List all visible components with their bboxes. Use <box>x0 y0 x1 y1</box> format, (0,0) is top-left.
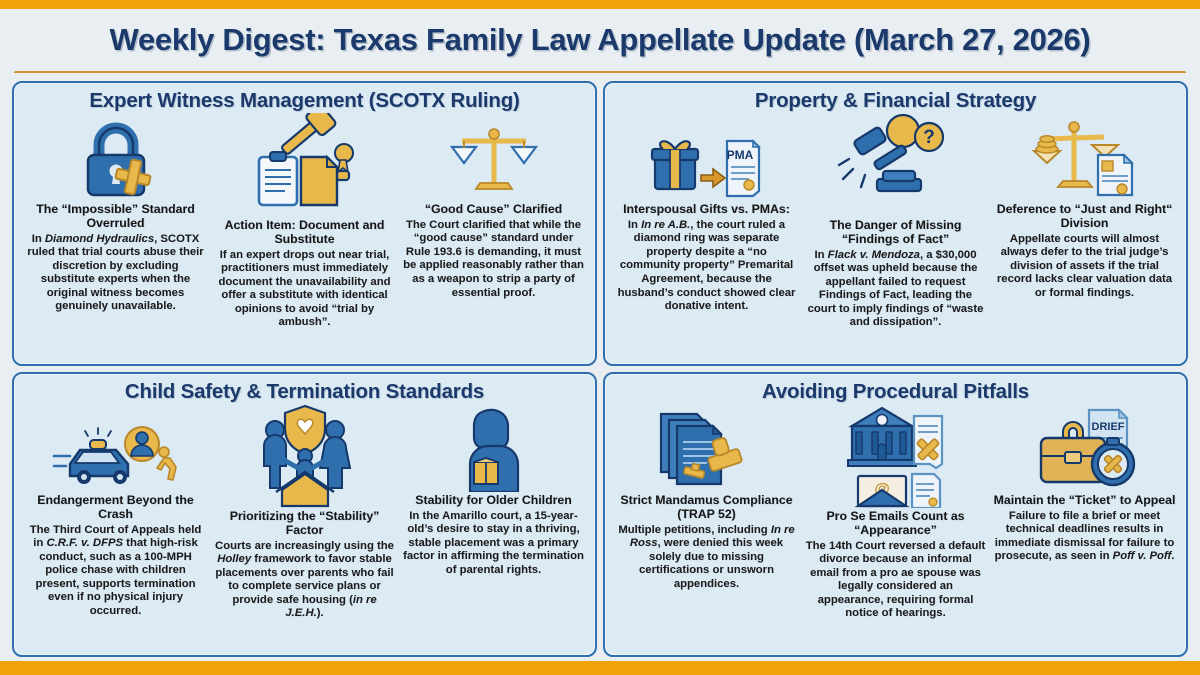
brief-label: DRIEF <box>1091 421 1124 433</box>
card-good-cause-clarified: “Good Cause” Clarified The Court clarifi… <box>400 115 587 300</box>
card-body: The Court clarified that while the “good… <box>402 219 585 300</box>
balance-scales-icon <box>448 121 540 201</box>
icon-container <box>454 406 534 492</box>
card-title: The Danger of Missing “Findings of Fact” <box>804 219 987 247</box>
panel-procedural-pitfalls: Avoiding Procedural Pitfalls <box>603 372 1188 657</box>
police-car-chase-icon <box>52 412 180 492</box>
card-row: Strict Mandamus Compliance (TRAP 52) Mul… <box>613 406 1178 649</box>
card-body: In In re A.B., the court ruled a diamond… <box>615 219 798 314</box>
icon-container <box>448 115 540 201</box>
card-body: In Diamond Hydraulics, SCOTX ruled that … <box>24 233 207 314</box>
card-body: Failure to file a brief or meet technica… <box>993 510 1176 564</box>
gavel-question-mark-icon: ? <box>833 113 959 217</box>
card-stability-factor: Prioritizing the “Stability” Factor Cour… <box>211 404 398 621</box>
icon-container <box>71 115 161 201</box>
card-row: PMA Interspousal Gifts vs. PMAs: In In r… <box>613 115 1178 358</box>
panel-title: Expert Witness Management (SCOTX Ruling) <box>22 89 587 113</box>
card-title: Interspousal Gifts vs. PMAs: <box>623 203 790 217</box>
card-endangerment-beyond-crash: Endangerment Beyond the Crash The Third … <box>22 406 209 618</box>
pma-label: PMA <box>726 148 753 162</box>
card-title: Action Item: Document and Substitute <box>213 219 396 247</box>
card-stability-older-children: Stability for Older Children In the Amar… <box>400 406 587 578</box>
card-impossible-standard: The “Impossible” Standard Overruled In D… <box>22 115 209 314</box>
card-action-item-document: Action Item: Document and Substitute If … <box>211 113 398 330</box>
card-title: Prioritizing the “Stability” Factor <box>213 510 396 538</box>
scales-coins-deed-icon <box>1030 115 1140 201</box>
infographic-page: Weekly Digest: Texas Family Law Appellat… <box>0 0 1200 675</box>
card-pro-se-emails: @ Pro Se Emails Count as “Appearance” Th… <box>802 404 989 621</box>
card-title: The “Impossible” Standard Overruled <box>24 203 207 231</box>
card-missing-findings-of-fact: ? <box>802 113 989 330</box>
card-title: Stability for Older Children <box>415 494 571 508</box>
header: Weekly Digest: Texas Family Law Appellat… <box>0 9 1200 71</box>
family-shield-home-icon <box>246 404 364 508</box>
card-just-and-right-division: Deference to “Just and Right“ Division A… <box>991 115 1178 300</box>
card-body: Multiple petitions, including In re Ross… <box>615 524 798 592</box>
card-maintain-ticket-to-appeal: DRIEF <box>991 406 1178 564</box>
svg-text:?: ? <box>923 127 935 148</box>
icon-container <box>653 406 761 492</box>
icon-container <box>246 404 364 508</box>
panel-title: Child Safety & Termination Standards <box>22 380 587 404</box>
card-body: In Flack v. Mendoza, a $30,000 offset wa… <box>804 249 987 330</box>
top-accent-bar <box>0 0 1200 9</box>
courthouse-email-icon: @ <box>834 404 958 508</box>
card-row: The “Impossible” Standard Overruled In D… <box>22 115 587 358</box>
card-strict-mandamus-compliance: Strict Mandamus Compliance (TRAP 52) Mul… <box>613 406 800 591</box>
card-interspousal-gifts: PMA Interspousal Gifts vs. PMAs: In In r… <box>613 115 800 314</box>
panel-property-financial: Property & Financial Strategy PMA <box>603 81 1188 366</box>
icon-container <box>245 113 365 217</box>
icon-container <box>1030 115 1140 201</box>
icon-container: DRIEF <box>1027 406 1143 492</box>
page-title: Weekly Digest: Texas Family Law Appellat… <box>110 22 1091 58</box>
card-body: In the Amarillo court, a 15-year-old’s d… <box>402 510 585 578</box>
card-title: Strict Mandamus Compliance (TRAP 52) <box>615 494 798 522</box>
card-body: Courts are increasingly using the Holley… <box>213 540 396 621</box>
card-title: “Good Cause” Clarified <box>425 203 562 217</box>
card-body: If an expert drops out near trial, pract… <box>213 249 396 330</box>
gavel-clipboard-icon <box>245 113 365 217</box>
title-divider-rule <box>14 71 1186 75</box>
rejected-petitions-stamp-icon <box>653 404 761 492</box>
card-title: Endangerment Beyond the Crash <box>24 494 207 522</box>
icon-container: ? <box>833 113 959 217</box>
panel-expert-witness: Expert Witness Management (SCOTX Ruling) <box>12 81 597 366</box>
card-title: Deference to “Just and Right“ Division <box>993 203 1176 231</box>
teen-with-book-icon <box>454 406 534 492</box>
panel-grid: Expert Witness Management (SCOTX Ruling) <box>0 81 1200 661</box>
card-title: Pro Se Emails Count as “Appearance” <box>804 510 987 538</box>
card-body: Appellate courts will almost always defe… <box>993 233 1176 301</box>
panel-title: Avoiding Procedural Pitfalls <box>613 380 1178 404</box>
panel-child-safety: Child Safety & Termination Standards <box>12 372 597 657</box>
icon-container: PMA <box>649 115 765 201</box>
card-body: The Third Court of Appeals held in C.R.F… <box>24 524 207 619</box>
bottom-accent-bar <box>0 661 1200 675</box>
padlock-with-x-icon <box>71 117 161 201</box>
icon-container <box>52 406 180 492</box>
icon-container: @ <box>834 404 958 508</box>
card-title: Maintain the “Ticket” to Appeal <box>994 494 1176 508</box>
briefcase-deadline-icon: DRIEF <box>1027 404 1143 492</box>
card-row: Endangerment Beyond the Crash The Third … <box>22 406 587 649</box>
card-body: The 14th Court reversed a default divorc… <box>804 540 987 621</box>
gift-to-pma-document-icon: PMA <box>649 121 765 201</box>
panel-title: Property & Financial Strategy <box>613 89 1178 113</box>
